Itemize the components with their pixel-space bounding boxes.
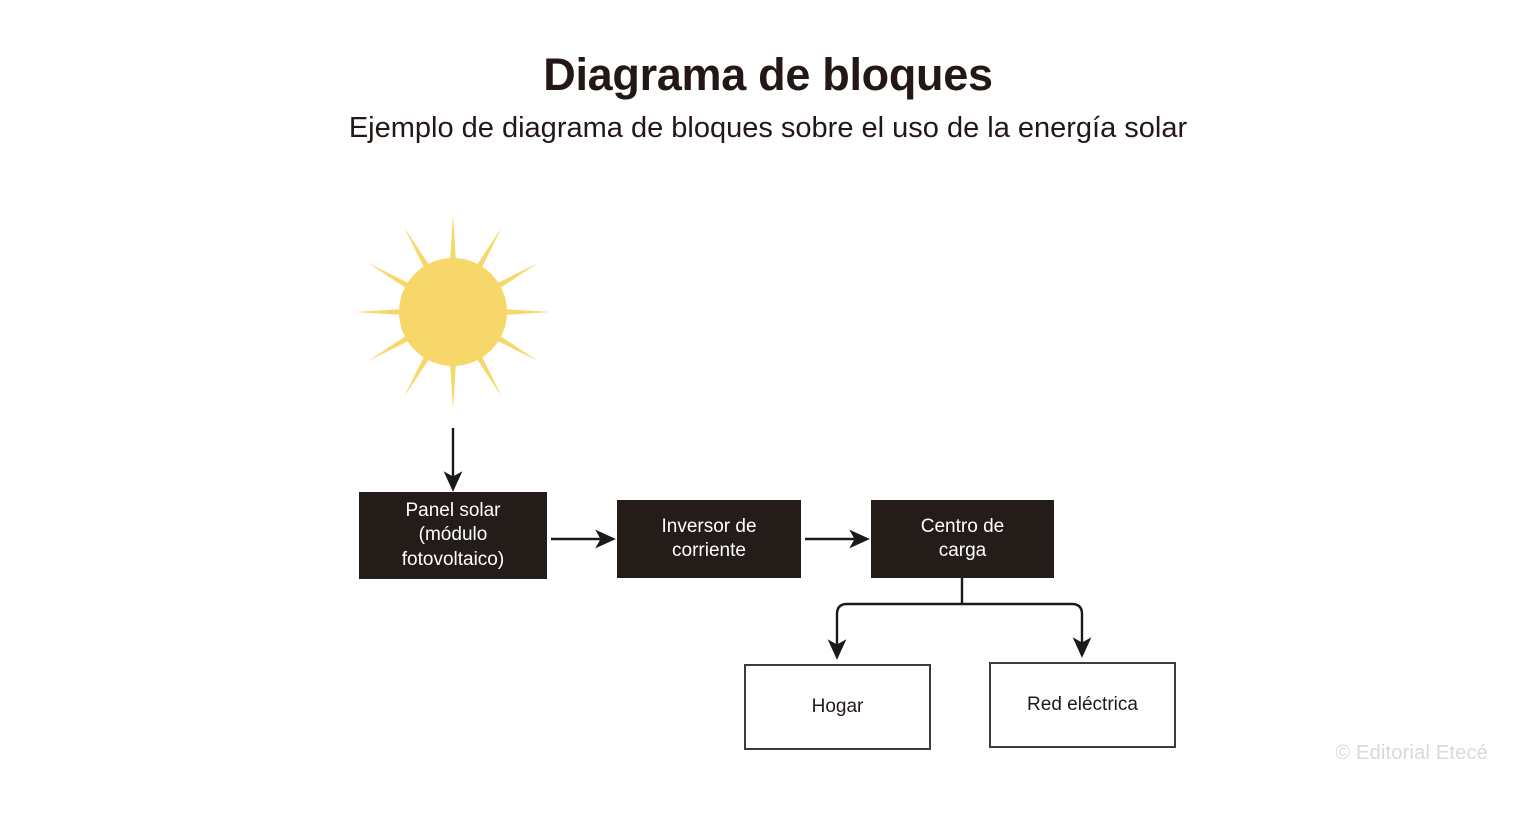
- editorial-credit: © Editorial Etecé: [1335, 742, 1488, 765]
- block-inversor-line-1: Inversor de: [661, 516, 756, 537]
- block-red-electrica-label: Red eléctrica: [1027, 693, 1138, 717]
- block-panel-solar-label: Panel solar (módulo fotovoltaico): [402, 499, 504, 572]
- block-inversor-line-2: corriente: [672, 540, 746, 561]
- block-inversor-de-corriente[interactable]: Inversor de corriente: [617, 500, 801, 578]
- block-centro-de-carga[interactable]: Centro de carga: [871, 500, 1054, 578]
- block-panel-solar-line-2: (módulo: [419, 524, 488, 545]
- block-panel-solar[interactable]: Panel solar (módulo fotovoltaico): [359, 492, 547, 579]
- block-inversor-label: Inversor de corriente: [661, 515, 756, 564]
- block-hogar[interactable]: Hogar: [744, 664, 931, 750]
- edge-center-to-grid: [962, 604, 1082, 655]
- edge-center-to-home: [837, 604, 962, 657]
- sun-icon: [353, 212, 553, 412]
- diagram-canvas: Diagrama de bloques Ejemplo de diagrama …: [0, 0, 1536, 821]
- block-panel-solar-line-1: Panel solar: [405, 500, 500, 521]
- block-centro-line-2: carga: [939, 540, 987, 561]
- block-centro-line-1: Centro de: [921, 516, 1004, 537]
- block-panel-solar-line-3: fotovoltaico): [402, 549, 504, 570]
- block-red-electrica[interactable]: Red eléctrica: [989, 662, 1176, 748]
- block-hogar-label: Hogar: [812, 695, 864, 719]
- page-title: Diagrama de bloques: [0, 50, 1536, 100]
- block-centro-label: Centro de carga: [921, 515, 1004, 564]
- page-subtitle: Ejemplo de diagrama de bloques sobre el …: [0, 111, 1536, 146]
